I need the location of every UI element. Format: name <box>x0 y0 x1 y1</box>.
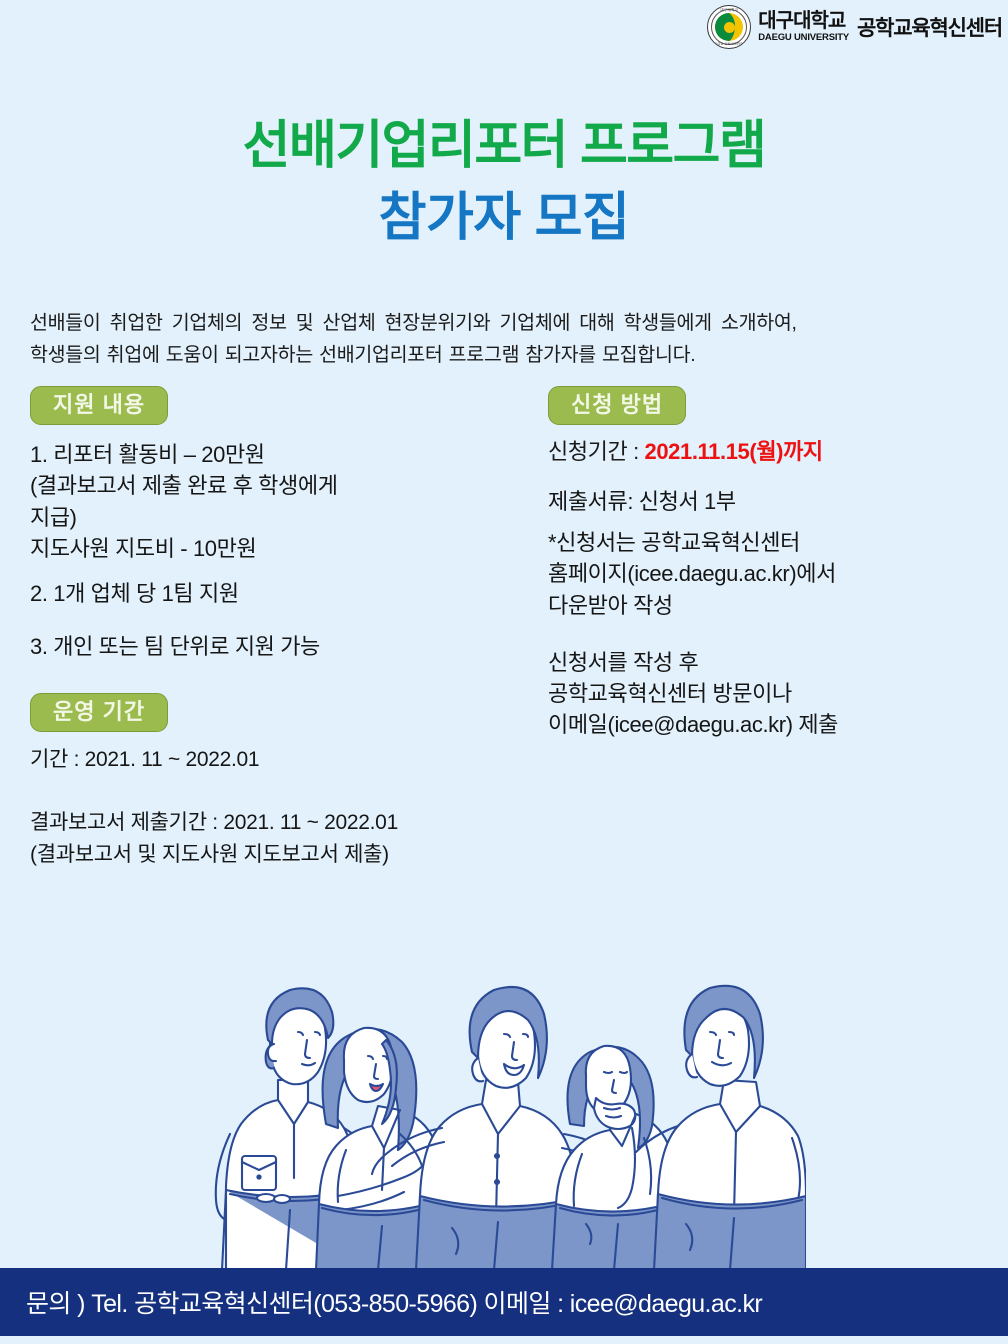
apply-submit-note: 신청서를 작성 후 공학교육혁신센터 방문이나 이메일(icee@daegu.a… <box>548 647 988 741</box>
apply-deadline-row: 신청기간 : 2021.11.15(월)까지 <box>548 437 988 468</box>
apply-column: 신청 방법 신청기간 : 2021.11.15(월)까지 제출서류: 신청서 1… <box>548 386 988 741</box>
poster-canvas: 대구대학교 DAEGU UNIVERSITY 대구대학교 DAEGU UNIVE… <box>0 0 1008 1344</box>
apply-documents: 제출서류: 신청서 1부 <box>548 486 988 517</box>
intro-line-2: 학생들의 취업에 도움이 되고자하는 선배기업리포터 프로그램 참가자를 모집합… <box>30 340 982 372</box>
students-illustration <box>186 928 806 1270</box>
period-badge: 운영 기간 <box>30 693 168 732</box>
poster-title-line1: 선배기업리포터 프로그램 <box>0 118 1008 174</box>
support-list: 1. 리포터 활동비 – 20만원 (결과보고서 제출 완료 후 학생에게 지급… <box>30 439 530 662</box>
logo-center-name: 공학교육혁신센터 <box>857 12 1002 43</box>
logo-university-en: DAEGU UNIVERSITY <box>758 33 849 43</box>
support-item-2: 2. 1개 업체 당 1팀 지원 <box>30 578 530 609</box>
university-logo-bar: 대구대학교 DAEGU UNIVERSITY 대구대학교 DAEGU UNIVE… <box>707 4 1002 50</box>
apply-badge: 신청 방법 <box>548 386 686 425</box>
daegu-university-emblem-icon: 대구대학교 DAEGU UNIVERSITY <box>707 5 751 49</box>
footer-bottom-strip <box>0 1336 1008 1344</box>
apply-download-note: *신청서는 공학교육혁신센터 홈페이지(icee.daegu.ac.kr)에서 … <box>548 527 988 621</box>
support-item-3: 3. 개인 또는 팀 단위로 지원 가능 <box>30 631 530 662</box>
apply-deadline-value: 2021.11.15(월)까지 <box>645 439 823 464</box>
period-section: 운영 기간 기간 : 2021. 11 ~ 2022.01 결과보고서 제출기간… <box>30 693 530 872</box>
period-body: 기간 : 2021. 11 ~ 2022.01 결과보고서 제출기간 : 202… <box>30 744 530 872</box>
apply-deadline-label: 신청기간 : <box>548 439 645 464</box>
contact-footer: 문의 ) Tel. 공학교육혁신센터(053-850-5966) 이메일 : i… <box>0 1268 1008 1336</box>
support-column: 지원 내용 1. 리포터 활동비 – 20만원 (결과보고서 제출 완료 후 학… <box>30 386 530 871</box>
poster-title-line2: 참가자 모집 <box>0 190 1008 246</box>
support-item-1: 1. 리포터 활동비 – 20만원 (결과보고서 제출 완료 후 학생에게 지급… <box>30 439 530 564</box>
logo-university-kr: 대구대학교 <box>758 11 849 31</box>
support-badge: 지원 내용 <box>30 386 168 425</box>
contact-footer-text: 문의 ) Tel. 공학교육혁신센터(053-850-5966) 이메일 : i… <box>0 1284 762 1320</box>
intro-paragraph: 선배들이 취업한 기업체의 정보 및 산업체 현장분위기와 기업체에 대해 학생… <box>30 308 982 371</box>
intro-line-1: 선배들이 취업한 기업체의 정보 및 산업체 현장분위기와 기업체에 대해 학생… <box>30 308 982 340</box>
